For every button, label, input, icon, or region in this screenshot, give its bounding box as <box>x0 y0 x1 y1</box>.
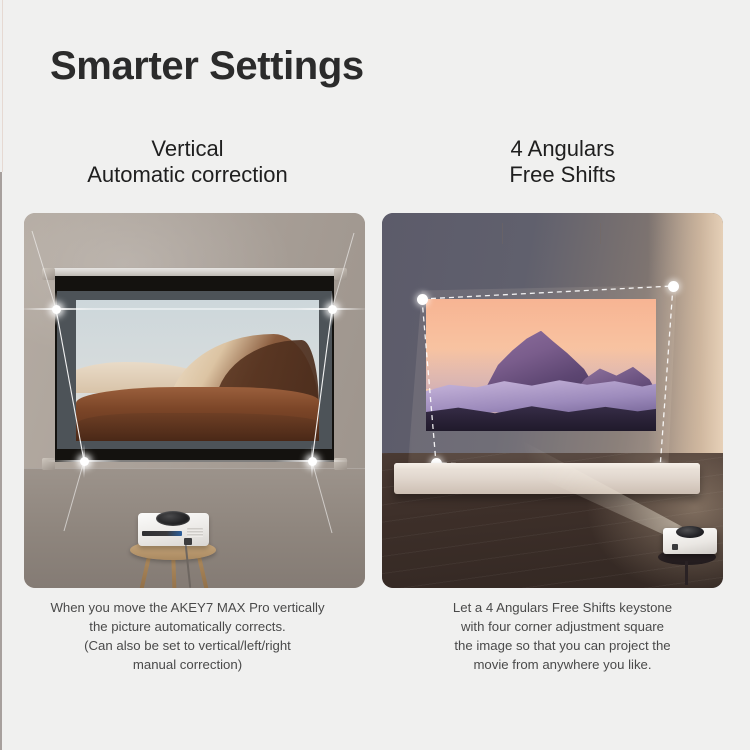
caption-left-line1: When you move the AKEY7 MAX Pro vertical… <box>14 598 361 617</box>
heading-vertical-automatic-correction: Vertical Automatic correction <box>87 136 288 188</box>
heading-4-angulars-free-shifts: 4 Angulars Free Shifts <box>509 136 615 188</box>
projector-top-lens-dial <box>156 511 190 526</box>
scene-dark-room <box>382 213 723 588</box>
projector-vent-grille <box>187 528 203 537</box>
heading-left-line1: Vertical <box>87 136 288 162</box>
projector-front-panel-strip <box>142 531 182 536</box>
heading-right-line2: Free Shifts <box>509 162 615 188</box>
photo-panel-vertical-correction <box>24 213 365 588</box>
photo-panel-four-corner-keystone <box>382 213 723 588</box>
caption-vertical-correction: When you move the AKEY7 MAX Pro vertical… <box>0 598 375 674</box>
projector-port <box>184 538 192 545</box>
caption-right-line2: with four corner adjustment square <box>389 617 736 636</box>
media-console-seam-right <box>600 223 601 244</box>
corner-adjust-handle-top-right[interactable] <box>668 281 679 292</box>
caption-left-line4: manual correction) <box>14 655 361 674</box>
dark-table-leg <box>685 561 688 585</box>
column-right: 4 Angulars Free Shifts <box>375 136 750 188</box>
caption-left-line3: (Can also be set to vertical/left/right <box>14 636 361 655</box>
panel-captions: When you move the AKEY7 MAX Pro vertical… <box>0 598 750 674</box>
corner-marker-bottom-right[interactable] <box>308 457 317 466</box>
column-headings: Vertical Automatic correction 4 Angulars… <box>0 136 750 188</box>
media-console-seam-left <box>502 223 503 244</box>
corner-marker-top-right[interactable] <box>328 305 337 314</box>
caption-right-line3: the image so that you can project the <box>389 636 736 655</box>
corner-marker-top-left[interactable] <box>52 305 61 314</box>
projector-port <box>672 544 678 550</box>
caption-left-line2: the picture automatically corrects. <box>14 617 361 636</box>
column-left: Vertical Automatic correction <box>0 136 375 188</box>
scene-beige-room <box>24 213 365 588</box>
heading-left-line2: Automatic correction <box>87 162 288 188</box>
projector-top-lens-dial <box>676 526 704 538</box>
caption-four-corner-keystone: Let a 4 Angulars Free Shifts keystone wi… <box>375 598 750 674</box>
caption-right-line1: Let a 4 Angulars Free Shifts keystone <box>389 598 736 617</box>
corner-marker-bottom-left[interactable] <box>80 457 89 466</box>
page-title: Smarter Settings <box>50 44 364 89</box>
corner-adjust-handle-top-left[interactable] <box>417 294 428 305</box>
heading-right-line1: 4 Angulars <box>509 136 615 162</box>
caption-right-line4: movie from anywhere you like. <box>389 655 736 674</box>
